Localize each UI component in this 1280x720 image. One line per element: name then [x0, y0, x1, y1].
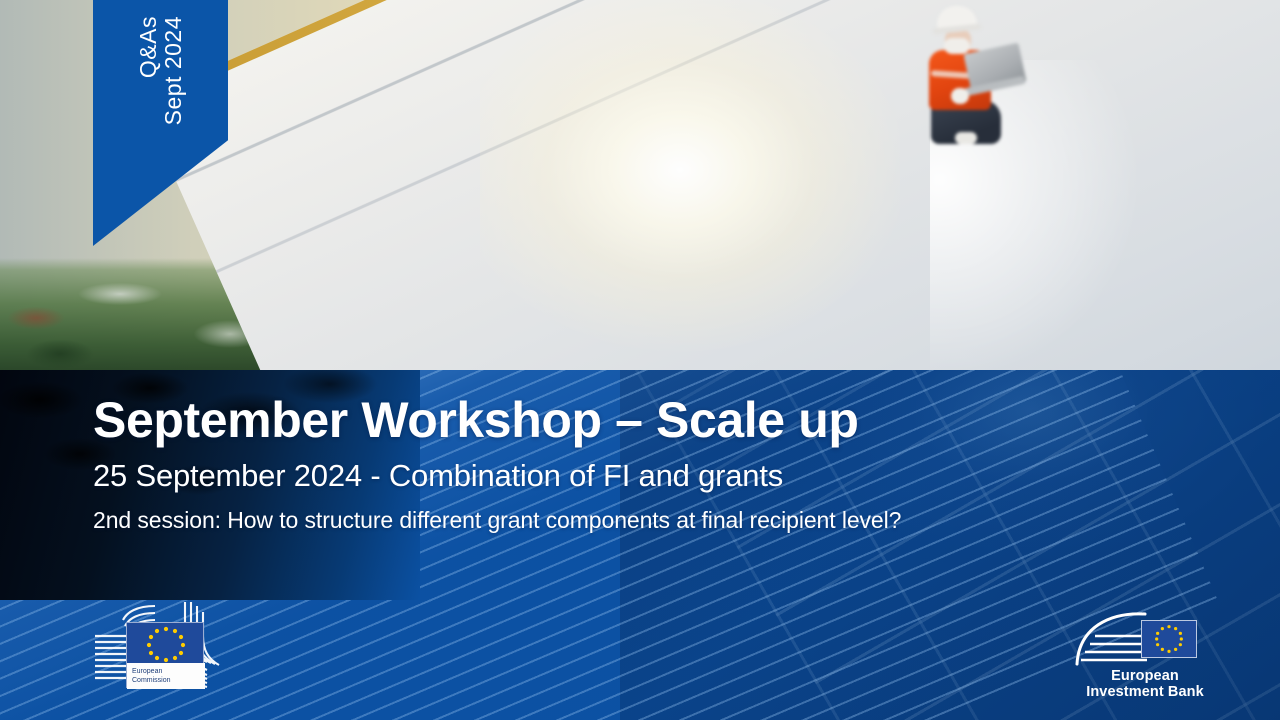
worker-hand [951, 88, 969, 104]
eu-stars-icon [127, 623, 205, 663]
title-block: September Workshop – Scale up 25 Septemb… [93, 392, 1093, 536]
qa-ribbon-text: Q&As Sept 2024 [93, 0, 228, 246]
european-investment-bank-logo: European Investment Bank [1065, 608, 1225, 706]
worker-face-mask [944, 38, 970, 54]
eib-label-line2: Investment Bank [1065, 684, 1225, 700]
ec-logo-label: European Commission [127, 663, 205, 689]
ribbon-line-qas: Q&As [137, 16, 160, 78]
page-title: September Workshop – Scale up [93, 392, 1093, 448]
eib-logo-label: European Investment Bank [1065, 668, 1225, 700]
eib-eu-stars-icon [1142, 621, 1196, 657]
eu-flag-box: European Commission [126, 622, 204, 688]
session-description: 2nd session: How to structure different … [93, 506, 1093, 536]
presentation-slide: Q&As Sept 2024 September Workshop – Scal… [0, 0, 1280, 720]
eib-eu-flag-box [1141, 620, 1197, 658]
ribbon-line-date: Sept 2024 [162, 16, 185, 125]
european-commission-logo: European Commission [93, 600, 243, 692]
ec-label-line2: Commission [132, 676, 205, 685]
worker-foot [955, 132, 977, 144]
page-subtitle: 25 September 2024 - Combination of FI an… [93, 457, 1093, 496]
eib-label-line1: European [1065, 668, 1225, 684]
ec-label-line1: European [132, 667, 205, 676]
worker-figure [915, 2, 1035, 152]
